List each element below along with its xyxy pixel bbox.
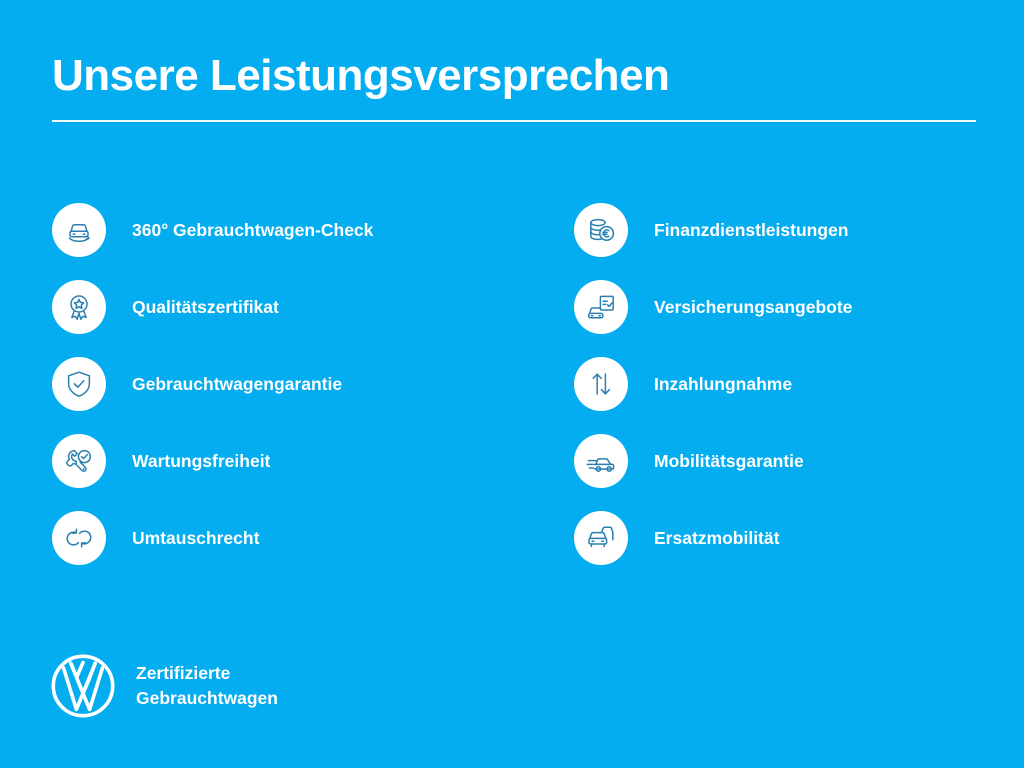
up-down-arrows-icon	[574, 357, 628, 411]
promise-item-gebrauchtwagen-check[interactable]: 360° Gebrauchtwagen-Check	[52, 203, 522, 257]
award-rosette-icon	[52, 280, 106, 334]
promise-label: Ersatzmobilität	[654, 527, 779, 549]
promise-item-gebrauchtwagengarantie[interactable]: Gebrauchtwagengarantie	[52, 357, 522, 411]
slide-header: Unsere Leistungsversprechen	[52, 50, 976, 122]
promises-grid: 360° Gebrauchtwagen-Check Qualitätszerti…	[0, 203, 1024, 565]
promise-item-wartungsfreiheit[interactable]: Wartungsfreiheit	[52, 434, 522, 488]
car-360-check-icon	[52, 203, 106, 257]
brand-text: Zertifizierte Gebrauchtwagen	[136, 661, 278, 711]
promise-label: 360° Gebrauchtwagen-Check	[132, 219, 373, 241]
promise-item-mobilitaetsgarantie[interactable]: Mobilitätsgarantie	[574, 434, 994, 488]
promise-item-finanzdienstleistungen[interactable]: Finanzdienstleistungen	[574, 203, 994, 257]
brand-line-1: Zertifizierte	[136, 661, 278, 686]
promise-item-qualitaetszertifikat[interactable]: Qualitätszertifikat	[52, 280, 522, 334]
promise-label: Qualitätszertifikat	[132, 296, 279, 318]
promise-label: Wartungsfreiheit	[132, 450, 270, 472]
promise-label: Gebrauchtwagengarantie	[132, 373, 342, 395]
volkswagen-logo	[50, 653, 116, 719]
promise-item-inzahlungnahme[interactable]: Inzahlungnahme	[574, 357, 994, 411]
title-divider	[52, 120, 976, 122]
promise-label: Mobilitätsgarantie	[654, 450, 804, 472]
car-motion-icon	[574, 434, 628, 488]
coins-euro-icon	[574, 203, 628, 257]
promise-label: Umtauschrecht	[132, 527, 259, 549]
promise-label: Finanzdienstleistungen	[654, 219, 848, 241]
slide-root: Unsere Leistungsversprechen 360° Gebrauc	[0, 0, 1024, 768]
exchange-arrows-icon	[52, 511, 106, 565]
promises-column-left: 360° Gebrauchtwagen-Check Qualitätszerti…	[52, 203, 522, 565]
promises-column-right: Finanzdienstleistungen Versicheru	[574, 203, 994, 565]
promise-item-versicherungsangebote[interactable]: Versicherungsangebote	[574, 280, 994, 334]
page-title: Unsere Leistungsversprechen	[52, 50, 976, 102]
two-cars-icon	[574, 511, 628, 565]
shield-check-icon	[52, 357, 106, 411]
promise-item-ersatzmobilitaet[interactable]: Ersatzmobilität	[574, 511, 994, 565]
car-document-check-icon	[574, 280, 628, 334]
brand-footer: Zertifizierte Gebrauchtwagen	[50, 653, 278, 719]
promise-label: Inzahlungnahme	[654, 373, 792, 395]
promise-label: Versicherungsangebote	[654, 296, 852, 318]
promise-item-umtauschrecht[interactable]: Umtauschrecht	[52, 511, 522, 565]
wrench-check-icon	[52, 434, 106, 488]
brand-line-2: Gebrauchtwagen	[136, 686, 278, 711]
